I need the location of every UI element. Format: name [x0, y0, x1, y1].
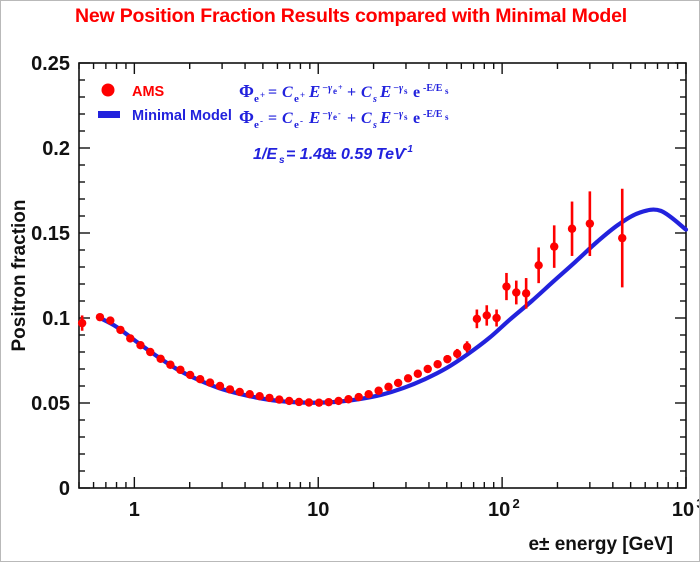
data-point — [106, 316, 114, 324]
svg-text:=: = — [268, 84, 277, 101]
y-axis-label: Positron fraction — [9, 199, 30, 351]
legend-label-ams: AMS — [132, 84, 165, 100]
svg-text:−γ: −γ — [393, 83, 404, 94]
data-point — [305, 398, 313, 406]
legend-label-minimal-model: Minimal Model — [132, 108, 232, 124]
x-tick-exponent: 3 — [696, 496, 700, 511]
svg-text:C: C — [361, 110, 372, 127]
x-tick-label: 10 — [672, 499, 694, 521]
svg-text:Φ: Φ — [239, 107, 254, 127]
svg-text:±: ± — [328, 146, 337, 163]
svg-text:C: C — [282, 84, 293, 101]
data-point — [255, 392, 263, 400]
svg-text:+: + — [260, 90, 265, 100]
svg-text:s: s — [279, 155, 285, 166]
y-tick-label: 0 — [59, 478, 70, 500]
svg-text:E: E — [379, 82, 391, 101]
formula-positron: Φe+=Ce+E−γe++CsE−γse-E/Es — [239, 81, 449, 105]
data-point — [186, 371, 194, 379]
svg-text:−γ: −γ — [393, 109, 404, 120]
data-point — [404, 374, 412, 382]
data-point — [265, 394, 273, 402]
data-point — [275, 395, 283, 403]
formula-electron: Φe-=Ce-E−γe-+CsE−γse-E/Es — [239, 107, 449, 131]
data-point — [384, 383, 392, 391]
data-point — [334, 397, 342, 405]
svg-text:e: e — [294, 93, 299, 105]
svg-text:C: C — [361, 84, 372, 101]
data-point — [96, 313, 104, 321]
svg-text:E: E — [308, 108, 320, 127]
data-point — [146, 348, 154, 356]
svg-text:= 1.48: = 1.48 — [286, 146, 331, 163]
data-point — [618, 234, 626, 242]
svg-text:0.59: 0.59 — [341, 146, 372, 163]
y-tick-label: 0.25 — [31, 53, 70, 75]
svg-text:e: e — [254, 119, 259, 131]
svg-text:e: e — [294, 119, 299, 131]
fit-result: 1/Es= 1.48±0.59TeV-1 — [253, 144, 413, 166]
svg-text:s: s — [372, 120, 377, 131]
data-point — [374, 387, 382, 395]
data-point — [78, 319, 86, 327]
y-tick-label: 0.15 — [31, 223, 70, 245]
data-point — [235, 388, 243, 396]
svg-text:−γ: −γ — [322, 109, 333, 120]
svg-text:s: s — [445, 86, 449, 96]
svg-text:-: - — [338, 109, 341, 118]
svg-text:+: + — [338, 83, 343, 92]
data-point — [295, 398, 303, 406]
svg-text:+: + — [347, 84, 356, 101]
data-point — [483, 311, 491, 319]
data-point — [512, 288, 520, 296]
data-point — [394, 379, 402, 387]
svg-text:-1: -1 — [404, 144, 413, 155]
data-point — [502, 282, 510, 290]
svg-text:1/E: 1/E — [253, 146, 278, 163]
data-point — [414, 370, 422, 378]
data-point — [196, 375, 204, 383]
data-point — [433, 360, 441, 368]
data-point — [226, 385, 234, 393]
svg-text:TeV: TeV — [376, 146, 406, 163]
positron-fraction-plot: 00.050.10.150.20.25110102103Positron fra… — [1, 1, 700, 562]
data-point — [156, 355, 164, 363]
x-tick-exponent: 2 — [513, 496, 520, 511]
data-point — [522, 289, 530, 297]
data-point — [355, 393, 363, 401]
data-point — [492, 314, 500, 322]
svg-text:s: s — [404, 112, 408, 122]
svg-text:+: + — [347, 110, 356, 127]
data-point — [453, 350, 461, 358]
data-point — [116, 326, 124, 334]
svg-text:+: + — [300, 90, 305, 100]
svg-text:-E/E: -E/E — [423, 83, 443, 94]
data-point — [568, 225, 576, 233]
data-point — [166, 361, 174, 369]
data-point — [443, 355, 451, 363]
data-point — [364, 390, 372, 398]
legend-marker-ams — [102, 84, 115, 97]
svg-text:s: s — [445, 112, 449, 122]
svg-text:e: e — [333, 112, 337, 122]
x-tick-label: 10 — [307, 499, 329, 521]
data-point — [315, 398, 323, 406]
data-point — [534, 261, 542, 269]
svg-text:C: C — [282, 110, 293, 127]
x-axis-label: e± energy [GeV] — [528, 534, 673, 555]
data-point — [285, 397, 293, 405]
y-tick-label: 0.05 — [31, 393, 70, 415]
svg-text:e: e — [413, 110, 420, 127]
data-point — [246, 390, 254, 398]
data-point — [424, 365, 432, 373]
svg-text:e: e — [254, 93, 259, 105]
data-point — [126, 334, 134, 342]
data-point — [586, 219, 594, 227]
data-point — [176, 366, 184, 374]
svg-text:−γ: −γ — [322, 83, 333, 94]
data-point — [550, 242, 558, 250]
data-point — [344, 395, 352, 403]
data-point — [473, 315, 481, 323]
chart-page: New Position Fraction Results compared w… — [0, 0, 700, 562]
svg-text:s: s — [372, 94, 377, 105]
svg-text:-E/E: -E/E — [423, 109, 443, 120]
svg-text:E: E — [308, 82, 320, 101]
svg-text:e: e — [333, 86, 337, 96]
data-point — [216, 382, 224, 390]
x-tick-label: 1 — [129, 499, 140, 521]
data-point — [206, 378, 214, 386]
data-point — [324, 398, 332, 406]
y-tick-label: 0.2 — [42, 138, 70, 160]
svg-text:E: E — [379, 108, 391, 127]
svg-text:s: s — [404, 86, 408, 96]
svg-text:-: - — [300, 116, 303, 126]
svg-text:e: e — [413, 84, 420, 101]
svg-text:Φ: Φ — [239, 81, 254, 101]
data-points-group — [78, 189, 626, 407]
data-point — [463, 343, 471, 351]
y-tick-label: 0.1 — [42, 308, 70, 330]
data-point — [136, 341, 144, 349]
svg-text:-: - — [260, 116, 263, 126]
legend-marker-minimal-model — [98, 111, 120, 118]
svg-text:=: = — [268, 110, 277, 127]
x-tick-label: 10 — [488, 499, 510, 521]
